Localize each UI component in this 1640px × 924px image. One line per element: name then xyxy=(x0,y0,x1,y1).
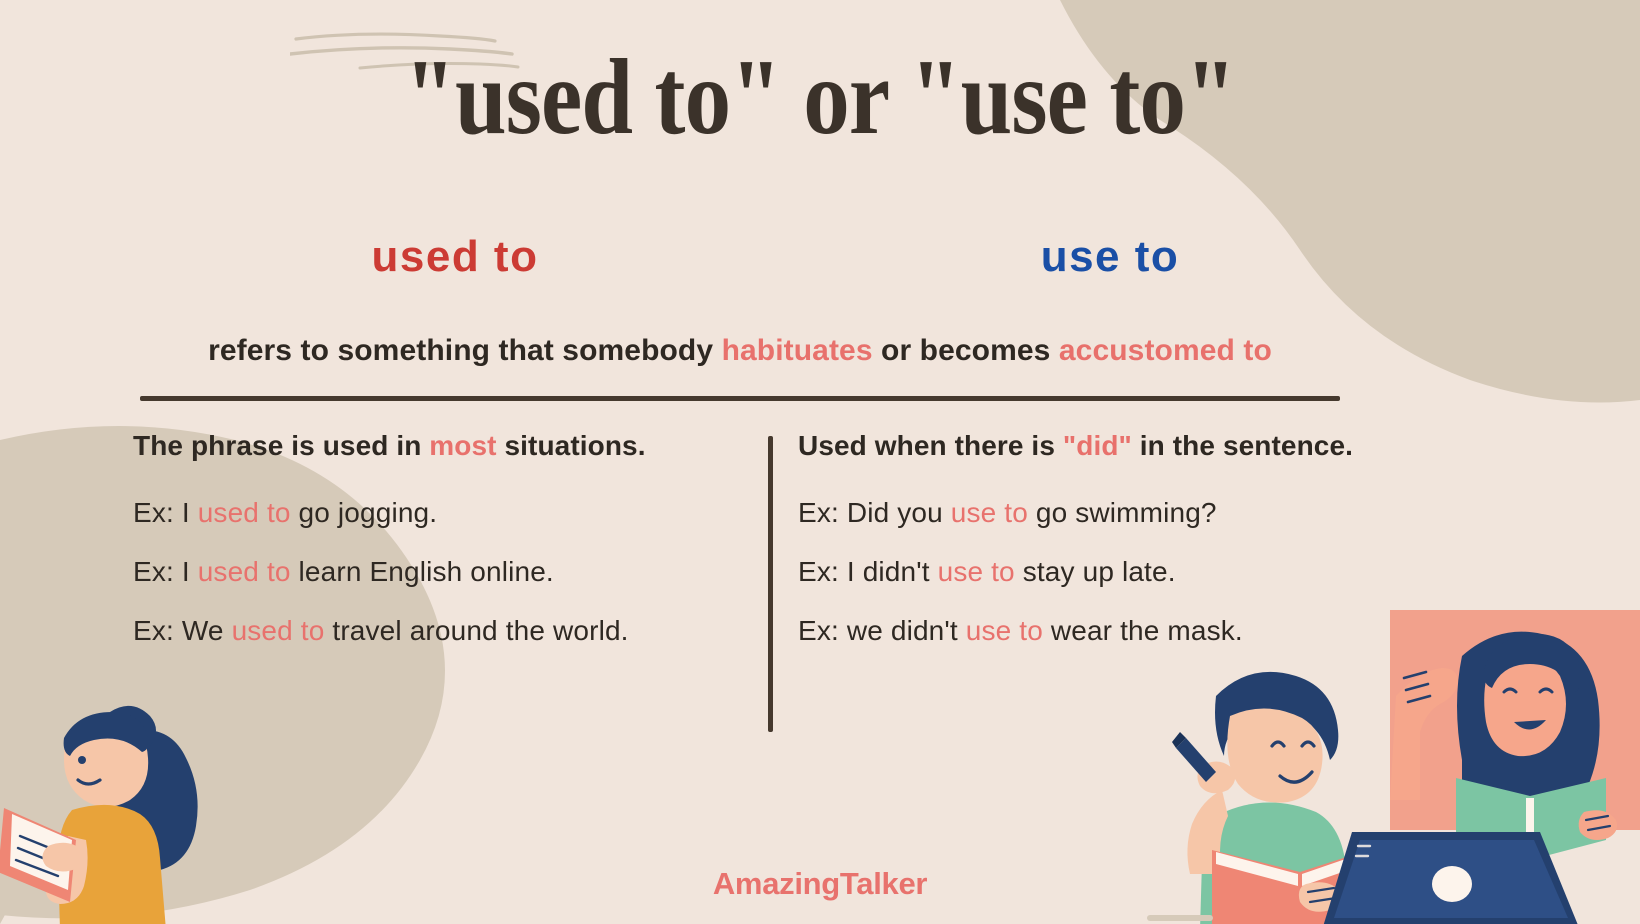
example-pre: Ex: We xyxy=(133,615,232,646)
example-highlight: used to xyxy=(232,615,325,646)
example-post: go swimming? xyxy=(1028,497,1217,528)
left-example-2: Ex: I used to learn English online. xyxy=(133,554,753,591)
left-lead-text: The phrase is used in most situations. xyxy=(133,428,753,463)
example-highlight: use to xyxy=(966,615,1043,646)
brand-logo-text: AmazingTalker xyxy=(0,866,1640,902)
left-example-3: Ex: We used to travel around the world. xyxy=(133,613,753,650)
horizontal-divider xyxy=(140,396,1340,401)
right-lead-post: in the sentence. xyxy=(1132,430,1353,461)
right-example-1: Ex: Did you use to go swimming? xyxy=(798,495,1438,532)
example-pre: Ex: I xyxy=(133,497,198,528)
right-lead-text: Used when there is "did" in the sentence… xyxy=(798,428,1438,463)
left-example-1: Ex: I used to go jogging. xyxy=(133,495,753,532)
right-lead-pre: Used when there is xyxy=(798,430,1063,461)
example-pre: Ex: Did you xyxy=(798,497,951,528)
subtitle-highlight-accustomed: accustomed to xyxy=(1059,334,1272,367)
example-post: stay up late. xyxy=(1015,556,1176,587)
left-lead-post: situations. xyxy=(497,430,646,461)
example-pre: Ex: I didn't xyxy=(798,556,938,587)
definition-subtitle: refers to something that somebody habitu… xyxy=(140,334,1340,368)
right-lead-highlight: "did" xyxy=(1063,430,1132,461)
subtitle-part2: or becomes xyxy=(873,334,1059,367)
right-example-2: Ex: I didn't use to stay up late. xyxy=(798,554,1438,591)
vertical-divider xyxy=(768,436,773,732)
page-title: "used to" or "use to" xyxy=(115,44,1525,152)
example-pre: Ex: I xyxy=(133,556,198,587)
column-used-to: The phrase is used in most situations. E… xyxy=(133,428,753,672)
example-post: go jogging. xyxy=(291,497,438,528)
left-lead-highlight: most xyxy=(429,430,496,461)
example-highlight: used to xyxy=(198,556,291,587)
subtitle-part1: refers to something that somebody xyxy=(208,334,721,367)
column-header-used-to: used to xyxy=(135,232,775,282)
example-highlight: used to xyxy=(198,497,291,528)
column-header-use-to: use to xyxy=(790,232,1430,282)
example-post: learn English online. xyxy=(291,556,554,587)
example-post: travel around the world. xyxy=(324,615,628,646)
example-highlight: use to xyxy=(951,497,1028,528)
left-lead-pre: The phrase is used in xyxy=(133,430,429,461)
subtitle-highlight-habituates: habituates xyxy=(722,334,873,367)
example-highlight: use to xyxy=(938,556,1015,587)
example-pre: Ex: we didn't xyxy=(798,615,966,646)
